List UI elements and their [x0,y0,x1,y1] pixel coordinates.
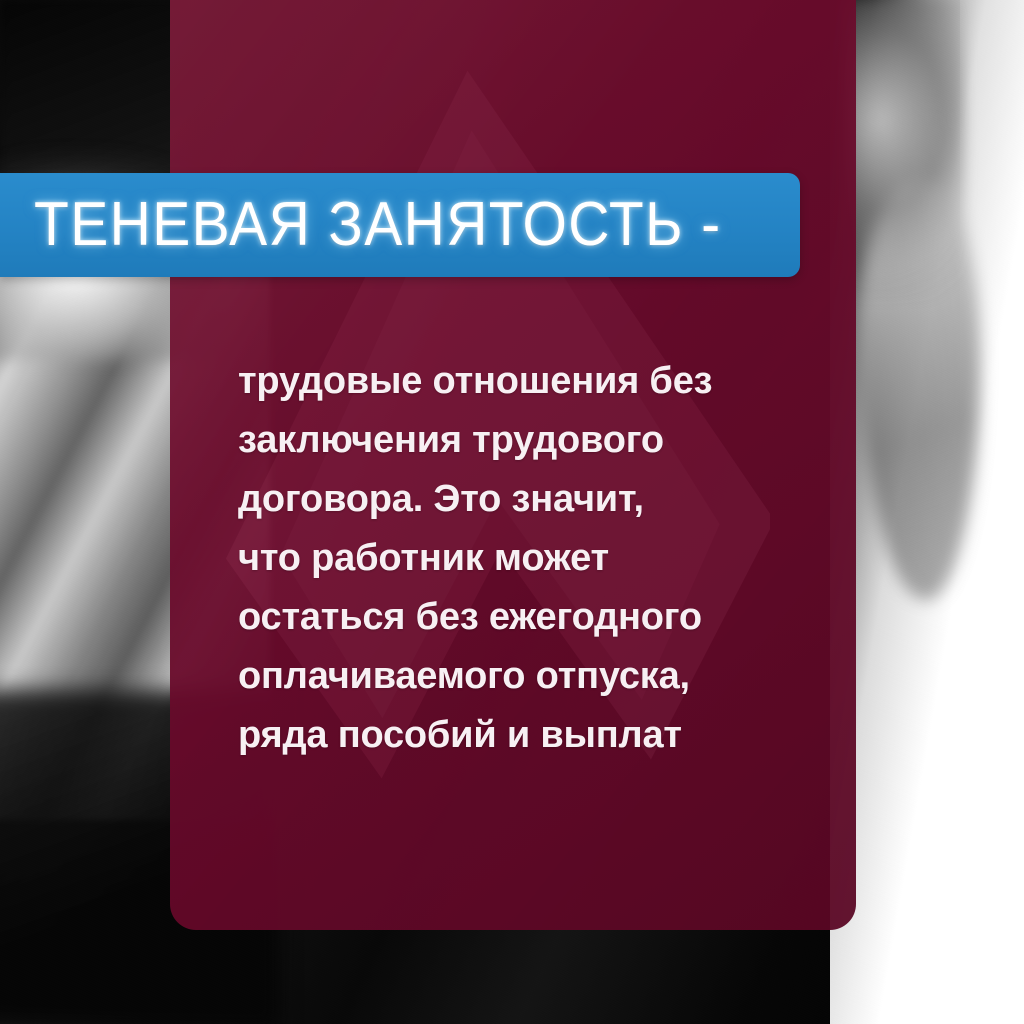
body-paragraph: трудовые отношения без заключения трудов… [238,352,838,765]
title-banner: ТЕНЕВАЯ ЗАНЯТОСТЬ - [0,173,800,277]
body-line: что работник может [238,529,838,588]
body-line: заключения трудового [238,411,838,470]
poster-canvas: ТЕНЕВАЯ ЗАНЯТОСТЬ - трудовые отношения б… [0,0,1024,1024]
body-line: ряда пособий и выплат [238,706,838,765]
body-line: договора. Это значит, [238,470,838,529]
page-title: ТЕНЕВАЯ ЗАНЯТОСТЬ - [34,194,722,256]
body-line: остаться без ежегодного [238,588,838,647]
body-line: трудовые отношения без [238,352,838,411]
body-line: оплачиваемого отпуска, [238,647,838,706]
